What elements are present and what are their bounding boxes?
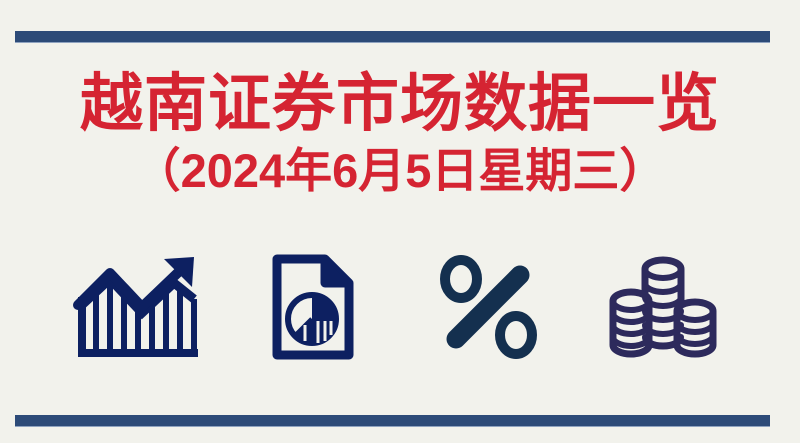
document-pie-chart-icon	[269, 253, 357, 361]
icon-cell-coin-stacks	[575, 244, 750, 370]
growth-bar-chart-icon	[70, 255, 206, 359]
page-title: 越南证券市场数据一览	[0, 68, 800, 140]
bottom-divider-bar	[15, 415, 770, 427]
icon-row	[0, 244, 800, 370]
poster-canvas: 越南证券市场数据一览 （2024年6月5日星期三）	[0, 0, 800, 443]
page-subtitle: （2024年6月5日星期三）	[0, 140, 800, 202]
percent-icon	[434, 253, 542, 361]
icon-cell-document-pie	[225, 244, 400, 370]
icon-cell-percent	[400, 244, 575, 370]
icon-cell-growth-chart	[50, 244, 225, 370]
top-divider-bar	[15, 31, 770, 43]
coin-stacks-icon	[607, 255, 719, 359]
title-block: 越南证券市场数据一览 （2024年6月5日星期三）	[0, 68, 800, 202]
